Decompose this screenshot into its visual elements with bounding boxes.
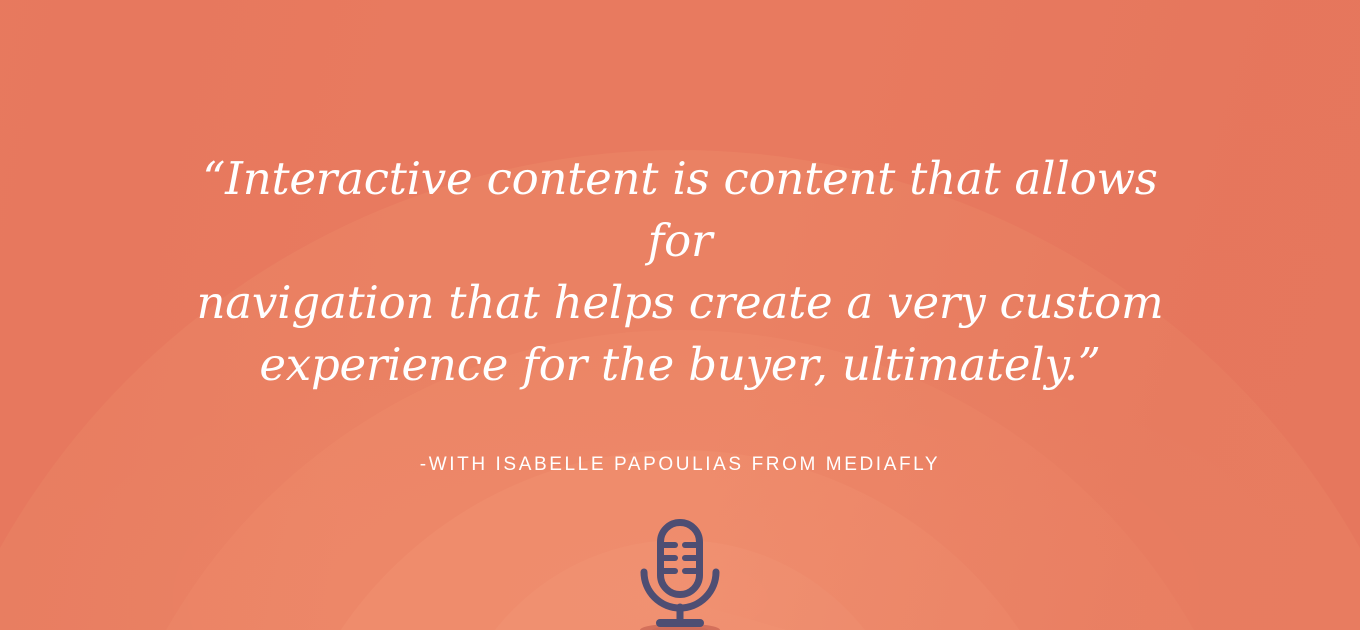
quote-slide: “Interactive content is content that all… (0, 0, 1360, 630)
microphone-icon-svg (632, 514, 728, 630)
microphone-arc-stand (644, 572, 716, 608)
quote-text: “Interactive content is content that all… (180, 148, 1180, 396)
slide-content: “Interactive content is content that all… (0, 0, 1360, 630)
quote-attribution: -WITH ISABELLE PAPOULIAS FROM MEDIAFLY (420, 454, 940, 476)
microphone-icon (632, 514, 728, 630)
microphone-body-group (644, 523, 716, 624)
